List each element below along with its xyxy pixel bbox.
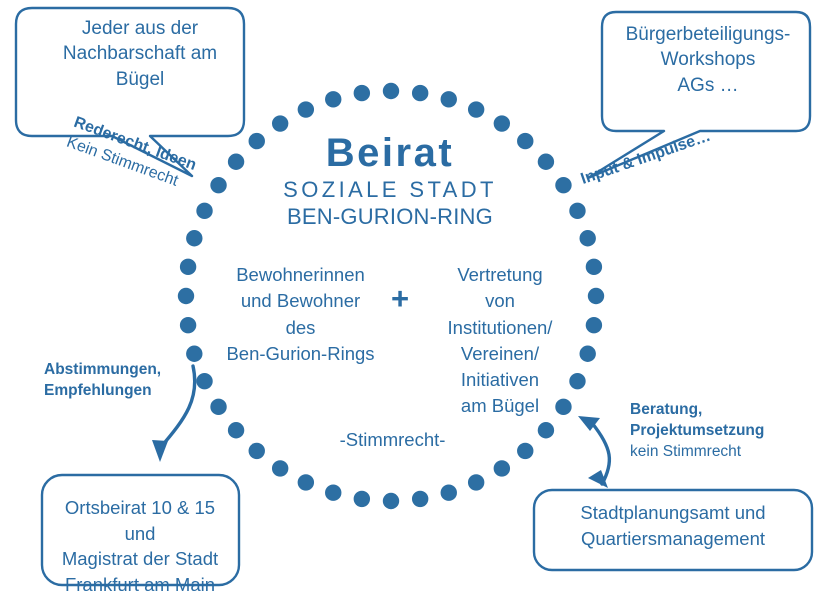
arrow-double-right — [578, 416, 609, 488]
ring-dot — [383, 83, 399, 99]
ring-dot — [210, 177, 226, 193]
ring-dot — [538, 422, 554, 438]
ring-dot — [580, 230, 596, 246]
ring-dot — [178, 288, 194, 304]
center-footer-stimmrecht: -Stimmrecht- — [300, 428, 485, 451]
ring-dot — [569, 203, 585, 219]
page-subtitle-2: BEN-GURION-RING — [240, 203, 540, 231]
ring-dot — [412, 491, 428, 507]
ring-dot — [228, 422, 244, 438]
box-bottom-right-text: Stadtplanungsamt und Quartiersmanagement — [537, 500, 809, 551]
ring-dot — [555, 177, 571, 193]
ring-dot — [441, 91, 457, 107]
ring-dot — [325, 485, 341, 501]
page-title: Beirat — [240, 128, 540, 178]
ring-dot — [383, 493, 399, 509]
ring-dot — [298, 101, 314, 117]
ring-dot — [196, 203, 212, 219]
ring-dot — [468, 474, 484, 490]
ring-dot — [180, 259, 196, 275]
ring-dot — [354, 85, 370, 101]
center-column-left: Bewohnerinnen und Bewohner des Ben-Gurio… — [213, 262, 388, 367]
ring-dot — [538, 154, 554, 170]
ring-dot — [441, 485, 457, 501]
bubble-top-right-text: Bürgerbeteiligungs- Workshops AGs … — [608, 22, 808, 98]
ring-dot — [325, 91, 341, 107]
ring-dot — [196, 373, 212, 389]
diagram-root: Jeder aus der Nachbarschaft am Bügel Bür… — [0, 0, 820, 600]
ring-dot — [412, 85, 428, 101]
plus-icon: + — [383, 280, 417, 319]
ring-dot — [272, 460, 288, 476]
ring-dot — [249, 443, 265, 459]
bubble-top-left-text: Jeder aus der Nachbarschaft am Bügel — [40, 16, 240, 92]
ring-dot — [186, 230, 202, 246]
ring-dot — [517, 443, 533, 459]
ring-dot — [354, 491, 370, 507]
annotation-bottom-right: Beratung, Projektumsetzung kein Stimmrec… — [630, 400, 805, 463]
ring-dot — [588, 288, 604, 304]
page-subtitle-1: SOZIALE STADT — [240, 176, 540, 204]
annotation-bottom-left: Abstimmungen, Empfehlungen — [44, 360, 196, 402]
annotation-bottom-right-regular: kein Stimmrecht — [630, 442, 805, 463]
ring-dot — [586, 317, 602, 333]
ring-dot — [180, 317, 196, 333]
annotation-bottom-right-bold: Beratung, Projektumsetzung — [630, 400, 805, 442]
ring-dot — [586, 259, 602, 275]
box-bottom-left-text: Ortsbeirat 10 & 15 und Magistrat der Sta… — [40, 495, 240, 597]
ring-dot — [298, 474, 314, 490]
center-column-right: Vertretung von Institutionen/ Vereinen/ … — [415, 262, 585, 420]
ring-dot — [494, 460, 510, 476]
ring-dot — [468, 101, 484, 117]
ring-dot — [210, 399, 226, 415]
